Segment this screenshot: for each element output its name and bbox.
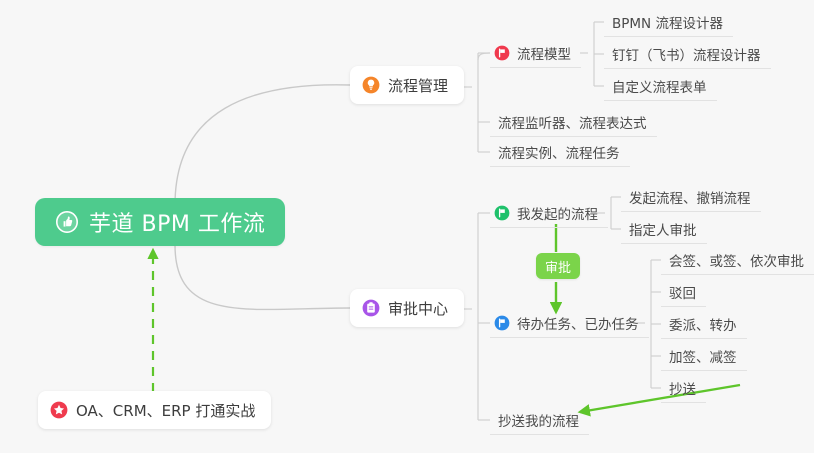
node-custom-process-form-label: 自定义流程表单: [612, 76, 707, 96]
node-countersign-orsign-sequential-label: 会签、或签、依次审批: [669, 250, 804, 270]
node-custom-process-form[interactable]: 自定义流程表单: [604, 71, 717, 101]
star-icon: [50, 401, 68, 419]
approval-badge-label: 审批: [545, 257, 571, 276]
edge-process-management-corner-top: [478, 53, 490, 60]
branch-process-management-label: 流程管理: [388, 75, 448, 96]
node-reject[interactable]: 驳回: [661, 277, 706, 307]
node-cc-to-me-process-label: 抄送我的流程: [498, 410, 579, 430]
node-reject-label: 驳回: [669, 282, 696, 302]
edge-root-to-approval-center: [175, 245, 350, 310]
node-add-remove-sign-label: 加签、减签: [669, 346, 737, 366]
node-start-cancel-process-label: 发起流程、撤销流程: [629, 187, 751, 207]
clipboard-icon: [362, 299, 380, 317]
node-my-started-process-label: 我发起的流程: [517, 203, 598, 223]
node-todo-done-task[interactable]: 待办任务、已办任务: [490, 308, 649, 338]
branch-process-management[interactable]: 流程管理: [350, 66, 464, 104]
node-carbon-copy[interactable]: 抄送: [661, 373, 706, 403]
node-delegate-transfer-label: 委派、转办: [669, 314, 737, 334]
node-process-model-label: 流程模型: [517, 43, 571, 63]
node-dingtalk-feishu-designer[interactable]: 钉钉（飞书）流程设计器: [604, 39, 771, 69]
node-instance-task[interactable]: 流程实例、流程任务: [490, 137, 630, 167]
flag-icon-blue: [494, 315, 510, 331]
node-oa-crm-erp-label: OA、CRM、ERP 打通实战: [76, 400, 255, 421]
annotation-cc-arrow: [580, 385, 740, 412]
node-assignee-approval[interactable]: 指定人审批: [621, 214, 707, 244]
node-carbon-copy-label: 抄送: [669, 378, 696, 398]
approval-badge[interactable]: 审批: [536, 253, 580, 279]
root-node-label: 芋道 BPM 工作流: [89, 206, 265, 238]
branch-approval-center-label: 审批中心: [388, 298, 448, 319]
node-listener-expression-label: 流程监听器、流程表达式: [498, 112, 647, 132]
lightbulb-pin-icon: [362, 76, 380, 94]
node-oa-crm-erp[interactable]: OA、CRM、ERP 打通实战: [38, 391, 271, 429]
flag-icon-red: [494, 45, 510, 61]
node-bpmn-designer-label: BPMN 流程设计器: [612, 12, 723, 32]
node-process-model[interactable]: 流程模型: [490, 38, 581, 68]
node-instance-task-label: 流程实例、流程任务: [498, 142, 620, 162]
node-listener-expression[interactable]: 流程监听器、流程表达式: [490, 107, 657, 137]
root-node[interactable]: 芋道 BPM 工作流: [35, 198, 285, 246]
node-add-remove-sign[interactable]: 加签、减签: [661, 341, 747, 371]
node-assignee-approval-label: 指定人审批: [629, 219, 697, 239]
thumbs-up-icon: [55, 210, 79, 234]
edge-root-to-process-management: [175, 85, 350, 205]
node-dingtalk-feishu-designer-label: 钉钉（飞书）流程设计器: [612, 44, 761, 64]
node-todo-done-task-label: 待办任务、已办任务: [517, 313, 639, 333]
node-start-cancel-process[interactable]: 发起流程、撤销流程: [621, 182, 761, 212]
node-bpmn-designer[interactable]: BPMN 流程设计器: [604, 7, 733, 37]
node-delegate-transfer[interactable]: 委派、转办: [661, 309, 747, 339]
branch-approval-center[interactable]: 审批中心: [350, 289, 464, 327]
flag-icon-green: [494, 205, 510, 221]
mindmap-canvas: 芋道 BPM 工作流 流程管理 流程模型 BPMN 流程设计器 钉钉（飞书）流程: [0, 0, 814, 453]
node-countersign-orsign-sequential[interactable]: 会签、或签、依次审批: [661, 245, 814, 275]
node-my-started-process[interactable]: 我发起的流程: [490, 198, 608, 228]
node-cc-to-me-process[interactable]: 抄送我的流程: [490, 405, 589, 435]
